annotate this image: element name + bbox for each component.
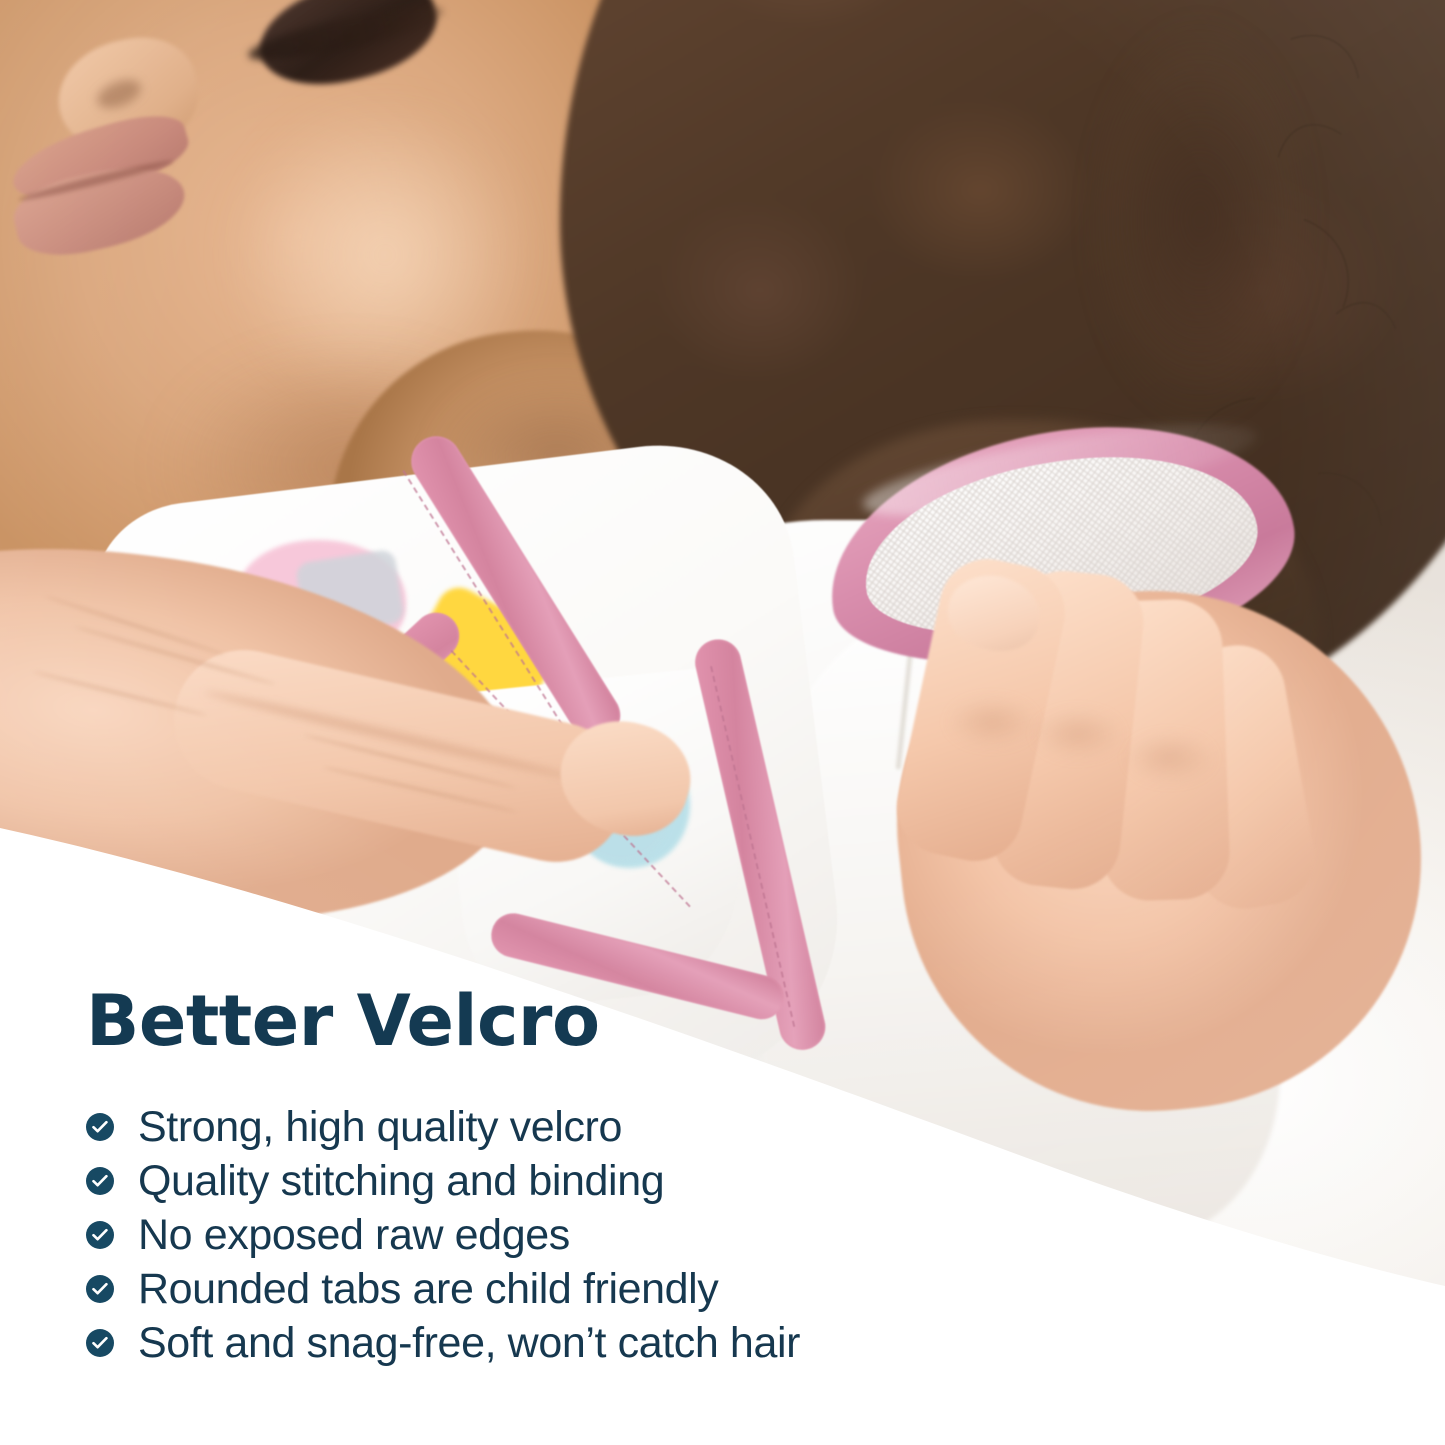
feature-list: Strong, high quality velcro Quality stit… [86, 1100, 1186, 1370]
list-item: Quality stitching and binding [86, 1154, 1186, 1208]
list-item: No exposed raw edges [86, 1208, 1186, 1262]
list-item: Soft and snag-free, won’t catch hair [86, 1316, 1186, 1370]
list-item: Strong, high quality velcro [86, 1100, 1186, 1154]
feature-text-block: Better Velcro Strong, high quality velcr… [86, 986, 1186, 1370]
knuckle-shadow [1108, 724, 1228, 790]
list-item-label: No exposed raw edges [138, 1214, 570, 1257]
check-circle-icon [86, 1113, 114, 1141]
product-feature-graphic: Better Velcro Strong, high quality velcr… [0, 0, 1445, 1445]
list-item-label: Quality stitching and binding [138, 1160, 664, 1203]
check-circle-icon [86, 1329, 114, 1357]
page-title: Better Velcro [86, 986, 1186, 1056]
list-item: Rounded tabs are child friendly [86, 1262, 1186, 1316]
check-circle-icon [86, 1275, 114, 1303]
list-item-label: Rounded tabs are child friendly [138, 1268, 718, 1311]
list-item-label: Soft and snag-free, won’t catch hair [138, 1322, 800, 1365]
list-item-label: Strong, high quality velcro [138, 1106, 622, 1149]
check-circle-icon [86, 1167, 114, 1195]
check-circle-icon [86, 1221, 114, 1249]
